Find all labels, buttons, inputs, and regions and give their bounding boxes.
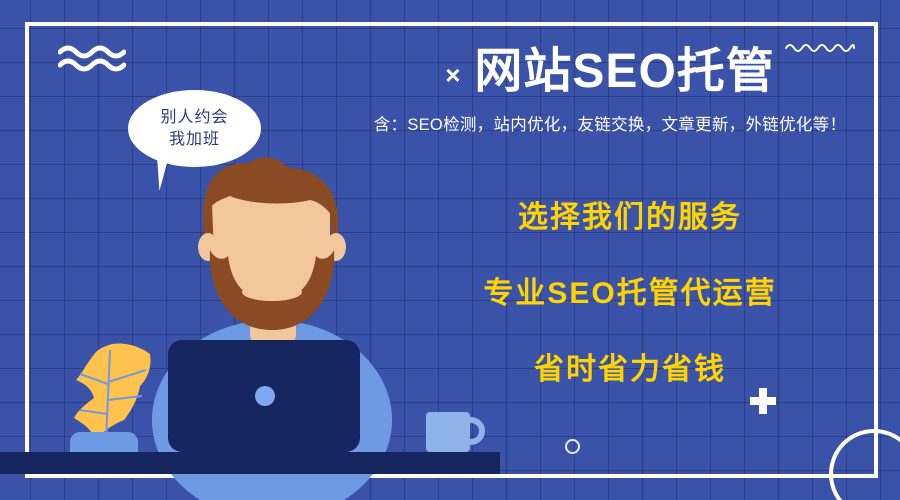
person-illustration [0, 0, 900, 500]
speech-bubble-line: 我加班 [169, 129, 220, 151]
laptop-logo-dot [255, 386, 275, 406]
speech-bubble-line: 别人约会 [160, 107, 228, 129]
desk-surface-left [0, 452, 146, 474]
mug-body [426, 412, 470, 452]
mug-handle [470, 420, 482, 442]
plant-leaf [74, 343, 151, 440]
person-mouth [242, 283, 302, 301]
seo-hosting-banner: × 网站SEO托管 含：SEO检测，站内优化，友链交换，文章更新，外链优化等！ … [0, 0, 900, 500]
speech-bubble: 别人约会 我加班 [128, 90, 261, 167]
